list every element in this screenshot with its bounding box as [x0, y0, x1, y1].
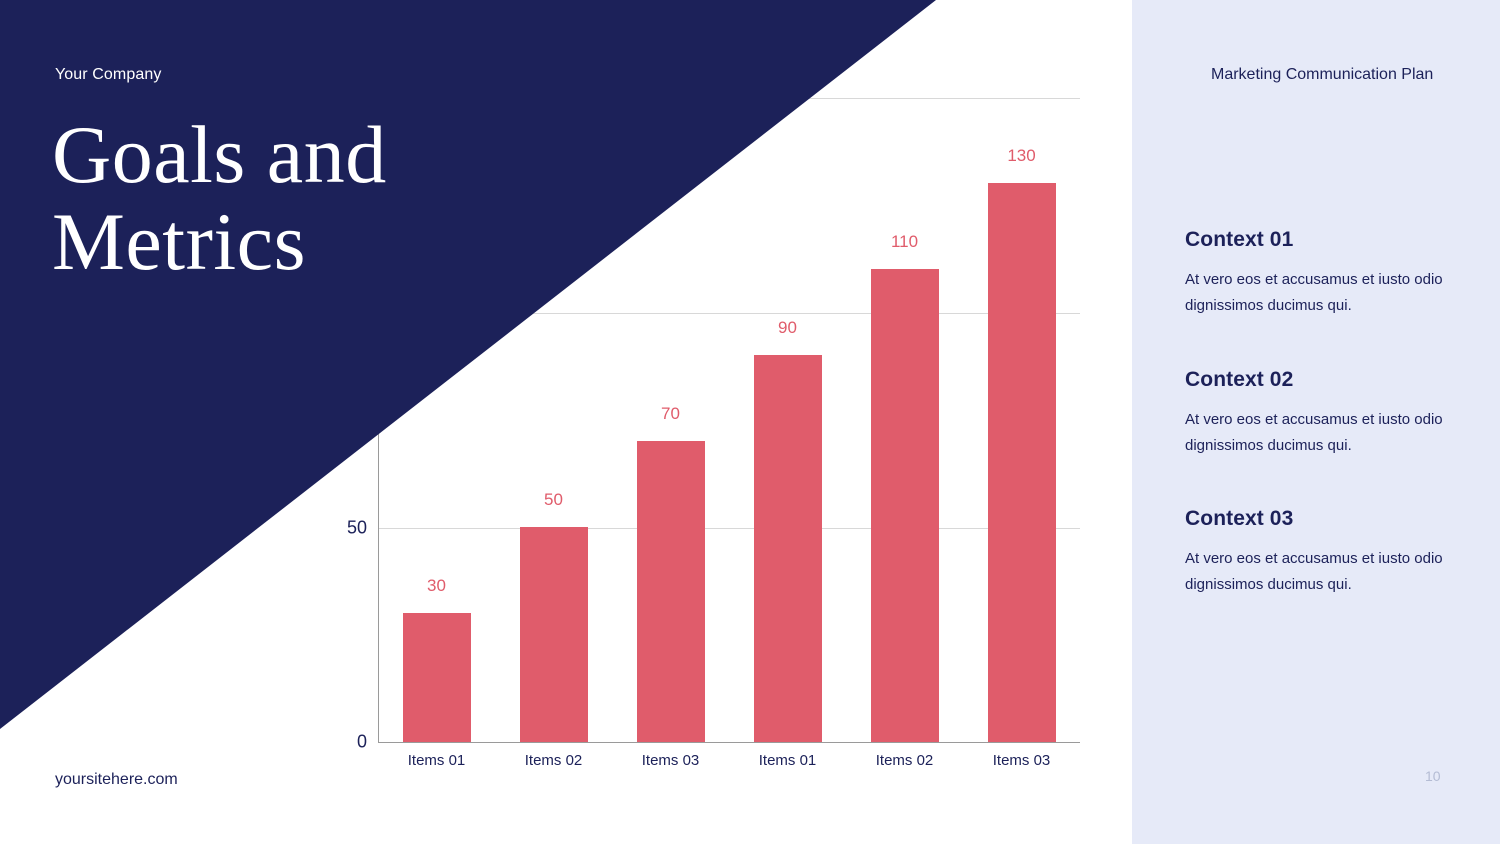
context-body: At vero eos et accusamus et iusto odio d…	[1185, 546, 1485, 599]
bar-value-label: 30	[427, 576, 446, 596]
context-body: At vero eos et accusamus et iusto odio d…	[1185, 267, 1485, 320]
bar-value-label: 50	[544, 490, 563, 510]
company-name: Your Company	[55, 66, 161, 84]
bar-value-label: 130	[1007, 146, 1035, 166]
site-url: yoursitehere.com	[55, 771, 178, 789]
bar-slot: 90	[729, 98, 846, 742]
y-axis-tick-label: 50	[347, 518, 367, 539]
page-number: 10	[1425, 768, 1441, 784]
context-body: At vero eos et accusamus et iusto odio d…	[1185, 407, 1485, 460]
bar-value-label: 90	[778, 318, 797, 338]
x-axis-tick-label: Items 03	[963, 752, 1080, 769]
context-title: Context 03	[1185, 507, 1485, 531]
bar-slot: 130	[963, 98, 1080, 742]
bar[interactable]	[520, 527, 588, 742]
x-axis-tick-label: Items 03	[612, 752, 729, 769]
x-axis-line	[378, 742, 1080, 743]
bar-value-label: 110	[891, 232, 918, 252]
slide: 50 0 30 50 70 90 110	[0, 0, 1500, 844]
x-axis-tick-label: Items 01	[729, 752, 846, 769]
panel-kicker: Marketing Communication Plan	[1211, 66, 1433, 84]
context-list: Context 01 At vero eos et accusamus et i…	[1185, 228, 1485, 599]
context-title: Context 02	[1185, 368, 1485, 392]
bar-slot: 110	[846, 98, 963, 742]
bar-value-label: 70	[661, 404, 680, 424]
page-title: Goals and Metrics	[52, 112, 612, 286]
context-title: Context 01	[1185, 228, 1485, 252]
x-axis-tick-label: Items 01	[378, 752, 495, 769]
y-axis-tick-label: 0	[357, 732, 367, 753]
bar[interactable]	[871, 269, 939, 742]
context-block: Context 03 At vero eos et accusamus et i…	[1185, 507, 1485, 599]
x-axis-tick-label: Items 02	[495, 752, 612, 769]
x-axis-tick-label: Items 02	[846, 752, 963, 769]
side-panel: Marketing Communication Plan Context 01 …	[1132, 0, 1500, 844]
context-block: Context 01 At vero eos et accusamus et i…	[1185, 228, 1485, 320]
context-block: Context 02 At vero eos et accusamus et i…	[1185, 368, 1485, 460]
bar[interactable]	[403, 613, 471, 742]
bar-slot: 70	[612, 98, 729, 742]
x-axis-labels: Items 01 Items 02 Items 03 Items 01 Item…	[378, 752, 1080, 769]
bar[interactable]	[754, 355, 822, 742]
bar[interactable]	[988, 183, 1056, 742]
bar[interactable]	[637, 441, 705, 742]
